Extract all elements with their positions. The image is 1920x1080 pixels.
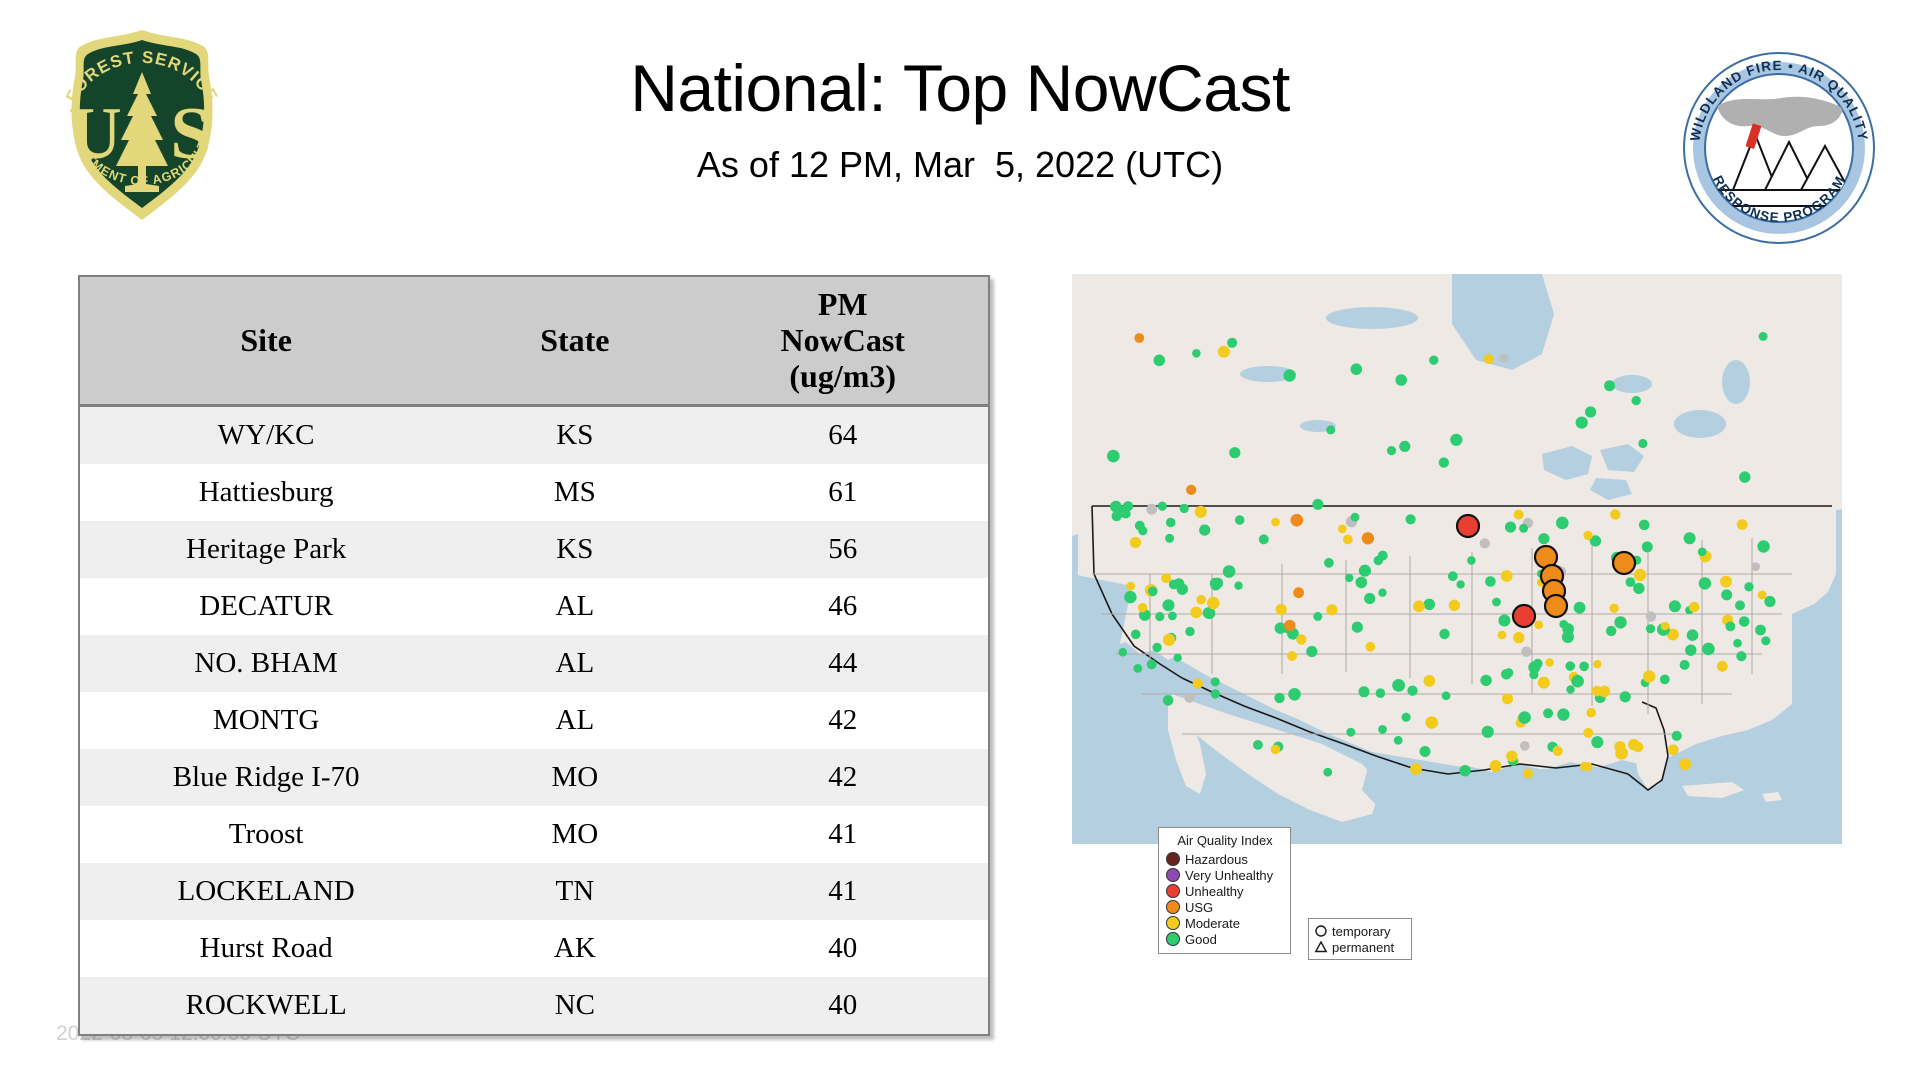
map-monitor-dot (1557, 708, 1569, 720)
title-block: National: Top NowCast As of 12 PM, Mar 5… (260, 54, 1660, 186)
map-monitor-dot (1492, 598, 1501, 607)
map-monitor-dot (1501, 669, 1512, 680)
pm-nowcast-cell: 64 (697, 406, 988, 465)
aqi-legend-swatch-icon (1166, 852, 1180, 866)
site-cell: WY/KC (80, 406, 452, 465)
map-monitor-dot (1186, 485, 1196, 495)
table-body: WY/KCKS64HattiesburgMS61Heritage ParkKS5… (80, 406, 988, 1035)
state-cell: AL (452, 692, 697, 749)
pm-nowcast-cell: 40 (697, 977, 988, 1034)
map-monitor-dot (1758, 591, 1767, 600)
map-monitor-dot (1583, 728, 1593, 738)
map-monitor-dot (1604, 380, 1615, 391)
map-monitor-dot (1633, 583, 1644, 594)
map-monitor-dot (1571, 675, 1584, 688)
column-header-site: Site (80, 277, 452, 406)
site-cell: ROCKWELL (80, 977, 452, 1034)
map-monitor-dot (1288, 688, 1301, 701)
aqi-legend-title: Air Quality Index (1166, 833, 1284, 848)
map-monitor-dot (1110, 501, 1122, 513)
map-monitor-dot (1351, 513, 1360, 522)
map-monitor-dot (1343, 535, 1353, 545)
map-monitor-dot (1543, 708, 1553, 718)
map-monitor-dot (1138, 603, 1147, 612)
permanent-triangle-icon (1314, 940, 1328, 954)
map-monitor-dot (1562, 631, 1574, 643)
map-monitor-dot (1410, 763, 1422, 775)
map-monitor-dot (1514, 510, 1524, 520)
map-monitor-dot (1634, 569, 1646, 581)
map-monitor-dot (1518, 711, 1531, 724)
map-monitor-dot (1529, 670, 1538, 679)
map-monitor-dot (1271, 518, 1280, 527)
pm-nowcast-cell: 61 (697, 464, 988, 521)
map-monitor-dot (1133, 664, 1142, 673)
map-monitor-dot (1759, 332, 1768, 341)
site-cell: Heritage Park (80, 521, 452, 578)
map-monitor-dot (1717, 661, 1728, 672)
map-monitor-dot (1534, 620, 1543, 629)
aqi-legend-label: Unhealthy (1185, 885, 1244, 898)
map-monitor-dot (1399, 441, 1410, 452)
map-monitor-dot (1423, 675, 1435, 687)
map-monitor-dot (1387, 446, 1396, 455)
map-monitor-dot (1283, 369, 1295, 381)
map-monitor-dot (1579, 662, 1589, 672)
table-header-row: Site State PM NowCast (ug/m3) (80, 277, 988, 406)
map-monitor-dot (1211, 689, 1220, 698)
map-monitor-dot (1196, 595, 1206, 605)
pm-nowcast-cell: 42 (697, 692, 988, 749)
map-monitor-dot (1689, 602, 1700, 613)
map-monitor-dot (1484, 354, 1494, 364)
map-monitor-dot (1606, 626, 1616, 636)
aqi-legend-swatch-icon (1166, 900, 1180, 914)
page-title: National: Top NowCast (260, 54, 1660, 124)
aqi-legend-item: Moderate (1166, 915, 1284, 931)
map-monitor-dot (1296, 634, 1306, 644)
state-cell: MO (452, 749, 697, 806)
map-monitor-dot (1679, 758, 1691, 770)
site-cell: Blue Ridge I-70 (80, 749, 452, 806)
map-monitor-dot (1429, 356, 1438, 365)
map-monitor-dot (1448, 571, 1458, 581)
map-monitor-dot (1668, 744, 1679, 755)
page-header: FOREST SERVICE U S DEPARTMENT OF AGRICUL… (0, 0, 1920, 255)
wfaqrp-logo: WILDLAND FIRE • AIR QUALITY RESPONSE PRO… (1681, 50, 1877, 246)
map-monitor-dot (1439, 457, 1449, 467)
map-monitor-dot (1227, 338, 1237, 348)
map-monitor-dot (1545, 658, 1553, 666)
table-row: TroostMO41 (80, 806, 988, 863)
table-row: Heritage ParkKS56 (80, 521, 988, 578)
table-row: LOCKELANDTN41 (80, 863, 988, 920)
site-cell: MONTG (80, 692, 452, 749)
map-monitor-dot (1338, 524, 1347, 533)
state-cell: MS (452, 464, 697, 521)
wildland-fire-air-quality-icon: WILDLAND FIRE • AIR QUALITY RESPONSE PRO… (1681, 50, 1877, 246)
column-header-pm-line3: (ug/m3) (789, 358, 896, 394)
map-monitor-dot (1680, 660, 1690, 670)
map-monitor-dot (1190, 607, 1202, 619)
site-cell: DECATUR (80, 578, 452, 635)
map-monitor-dot (1737, 519, 1748, 530)
map-monitor-dot (1174, 578, 1185, 589)
map-monitor-dot (1538, 677, 1550, 689)
site-cell: LOCKELAND (80, 863, 452, 920)
map-monitor-dot (1163, 634, 1175, 646)
site-type-label-temporary: temporary (1332, 925, 1391, 938)
map-monitor-dot (1274, 693, 1284, 703)
map-monitor-dot (1180, 504, 1189, 513)
map-monitor-dot (1351, 363, 1363, 375)
state-cell: KS (452, 521, 697, 578)
map-monitor-dot (1593, 660, 1601, 668)
map-monitor-dot (1121, 509, 1131, 519)
pm-nowcast-cell: 41 (697, 806, 988, 863)
map-monitor-dot (1513, 632, 1524, 643)
map-monitor-dot (1672, 731, 1682, 741)
map-monitor-dot (1614, 616, 1626, 628)
map-monitor-dot (1126, 582, 1135, 591)
map-monitor-dot (1500, 354, 1509, 363)
map-monitor-dot (1538, 533, 1549, 544)
map-monitor-dot (1501, 570, 1513, 582)
map-monitor-dot (1485, 576, 1496, 587)
map-monitor-dot (1185, 627, 1194, 636)
aqi-legend-swatch-icon (1166, 932, 1180, 946)
map-monitor-dot (1739, 471, 1750, 482)
map-monitor-dot (1323, 768, 1332, 777)
map-monitor-dot (1324, 558, 1334, 568)
site-cell: NO. BHAM (80, 635, 452, 692)
map-monitor-dot (1271, 745, 1281, 755)
map-monitor-dot (1642, 541, 1653, 552)
map-monitor-dot (1565, 661, 1575, 671)
map-monitor-dot (1235, 515, 1245, 525)
map-monitor-dot (1506, 751, 1517, 762)
aqi-legend-item: Good (1166, 931, 1284, 947)
aqi-legend-label: Very Unhealthy (1185, 869, 1273, 882)
aqi-legend: Air Quality Index HazardousVery Unhealth… (1158, 827, 1291, 954)
map-monitor-dot (1424, 599, 1435, 610)
map-monitor-dot (1628, 739, 1640, 751)
map-monitor-dot (1306, 646, 1317, 657)
map-monitor-dot (1574, 602, 1586, 614)
aqi-legend-label: USG (1185, 901, 1213, 914)
aqi-legend-item: USG (1166, 899, 1284, 915)
map-monitor-dot (1166, 518, 1176, 528)
map-monitor-dot (1480, 675, 1491, 686)
map-monitor-dot (1615, 747, 1628, 760)
forest-service-shield-icon: FOREST SERVICE U S DEPARTMENT OF AGRICUL… (47, 24, 237, 226)
pm-nowcast-cell: 41 (697, 863, 988, 920)
state-cell: KS (452, 406, 697, 465)
map-monitor-dot (1586, 708, 1596, 718)
map-monitor-dot (1439, 629, 1449, 639)
state-cell: NC (452, 977, 697, 1034)
map-monitor-dot (1199, 525, 1210, 536)
map-monitor-dot (1107, 450, 1120, 463)
map-monitor-dot (1192, 349, 1201, 358)
map-monitor-dot (1684, 532, 1696, 544)
map-monitor-dot (1733, 639, 1742, 648)
map-monitor-dot (1312, 499, 1323, 510)
map-monitor-dot (1699, 577, 1711, 589)
map-monitor-dot (1229, 447, 1240, 458)
map-monitor-dot (1154, 355, 1166, 367)
pm-nowcast-cell: 56 (697, 521, 988, 578)
map-monitor-dot (1556, 517, 1569, 530)
map-monitor-dot (1502, 693, 1513, 704)
site-cell: Hurst Road (80, 920, 452, 977)
map-monitor-dot (1456, 580, 1464, 588)
map-monitor-dot (1326, 604, 1337, 615)
map-monitor-dot (1638, 439, 1647, 448)
map-monitor-dot (1643, 670, 1655, 682)
map-monitor-dot (1482, 726, 1494, 738)
map-monitor-dot (1287, 651, 1297, 661)
map-monitor-dot (1378, 589, 1386, 597)
map-monitor-dot (1702, 643, 1715, 656)
map-monitor-dot (1362, 532, 1374, 544)
map-monitor-dot (1195, 506, 1207, 518)
map-monitor-dot (1259, 534, 1269, 544)
map-monitor-dot (1293, 587, 1304, 598)
map-monitor-dot (1211, 677, 1220, 686)
table-row: MONTGAL42 (80, 692, 988, 749)
top-nowcast-table-container: Site State PM NowCast (ug/m3) WY/KCKS64H… (78, 275, 990, 1036)
map-monitor-dot (1498, 615, 1510, 627)
map-highlight-marker[interactable]: WY/KC (KS): 64 (1457, 515, 1479, 537)
aqi-map[interactable]: WY/KC (KS): 64Hattiesburg (MS): 61Herita… (1072, 274, 1842, 844)
map-monitor-dot (1223, 565, 1236, 578)
map-monitor-dot (1757, 540, 1769, 552)
state-cell: AL (452, 578, 697, 635)
map-monitor-dot (1207, 597, 1220, 610)
map-monitor-dot (1253, 740, 1263, 750)
map-monitor-dot (1407, 686, 1417, 696)
map-monitor-dot (1119, 648, 1128, 657)
aqi-legend-item: Hazardous (1166, 851, 1284, 867)
map-monitor-dot (1735, 600, 1745, 610)
map-monitor-dot (1131, 630, 1141, 640)
map-monitor-dot (1669, 600, 1681, 612)
map-monitor-dot (1520, 741, 1530, 751)
state-cell: AK (452, 920, 697, 977)
map-monitor-dot (1394, 736, 1403, 745)
map-monitor-dot (1406, 514, 1416, 524)
map-monitor-dot (1420, 746, 1431, 757)
map-monitor-dot (1163, 695, 1174, 706)
site-type-row-permanent: permanent (1314, 939, 1406, 955)
map-monitor-dot (1764, 596, 1775, 607)
map-monitor-dot (1168, 612, 1177, 621)
aqi-legend-label: Hazardous (1185, 853, 1248, 866)
table-row: NO. BHAMAL44 (80, 635, 988, 692)
aqi-legend-label: Moderate (1185, 917, 1240, 930)
map-monitor-dot (1284, 620, 1295, 631)
aqi-legend-rows: HazardousVery UnhealthyUnhealthyUSGModer… (1166, 851, 1284, 947)
map-monitor-dot (1698, 548, 1707, 557)
table-row: DECATURAL46 (80, 578, 988, 635)
state-cell: TN (452, 863, 697, 920)
map-monitor-dot (1359, 686, 1370, 697)
map-monitor-dot (1364, 593, 1375, 604)
map-monitor-dot (1685, 645, 1696, 656)
map-monitor-dot (1425, 716, 1438, 729)
map-monitor-dot (1276, 604, 1287, 615)
map-monitor-dot (1450, 434, 1462, 446)
map-highlight-marker[interactable]: Hattiesburg (MS): 61 (1513, 605, 1535, 627)
map-monitor-dot (1660, 675, 1670, 685)
map-monitor-dot (1498, 631, 1507, 640)
table-row: WY/KCKS64 (80, 406, 988, 465)
map-monitor-dot (1378, 551, 1388, 561)
column-header-pm-nowcast: PM NowCast (ug/m3) (697, 277, 988, 406)
map-monitor-dot (1591, 736, 1603, 748)
site-cell: Troost (80, 806, 452, 863)
site-type-legend: temporary permanent (1308, 918, 1412, 960)
map-monitor-dot (1523, 769, 1533, 779)
map-monitor-dot (1376, 688, 1386, 698)
map-monitor-dot (1345, 574, 1353, 582)
aqi-map-svg[interactable]: WY/KC (KS): 64Hattiesburg (MS): 61Herita… (1072, 274, 1842, 844)
aqi-legend-swatch-icon (1166, 884, 1180, 898)
table-row: ROCKWELLNC40 (80, 977, 988, 1034)
pm-nowcast-cell: 46 (697, 578, 988, 635)
map-monitor-dot (1234, 581, 1242, 589)
map-monitor-dot (1148, 587, 1158, 597)
site-cell: Hattiesburg (80, 464, 452, 521)
map-monitor-dot (1646, 611, 1656, 621)
map-monitor-dot (1620, 691, 1631, 702)
map-monitor-dot (1184, 692, 1194, 702)
map-monitor-dot (1505, 522, 1516, 533)
map-monitor-dot (1134, 333, 1144, 343)
forest-service-logo: FOREST SERVICE U S DEPARTMENT OF AGRICUL… (47, 24, 237, 226)
map-monitor-dot (1583, 762, 1592, 771)
map-monitor-dot (1610, 509, 1620, 519)
map-monitor-dot (1326, 425, 1335, 434)
map-monitor-dot (1366, 642, 1376, 652)
map-monitor-dot (1112, 511, 1122, 521)
map-monitor-dot (1147, 659, 1157, 669)
map-monitor-dot (1163, 599, 1175, 611)
map-monitor-dot (1146, 504, 1157, 515)
map-monitor-dot (1413, 601, 1425, 613)
temporary-circle-icon (1314, 924, 1328, 938)
map-monitor-dot (1467, 556, 1476, 565)
page-subtitle: As of 12 PM, Mar 5, 2022 (UTC) (260, 144, 1660, 186)
top-nowcast-table: Site State PM NowCast (ug/m3) WY/KCKS64H… (80, 277, 988, 1034)
map-monitor-dot (1632, 396, 1641, 405)
map-monitor-dot (1609, 604, 1618, 613)
map-monitor-dot (1356, 577, 1368, 589)
column-header-pm-line1: PM (818, 286, 868, 322)
map-monitor-dot (1553, 746, 1563, 756)
map-monitor-dot (1661, 622, 1670, 631)
map-monitor-dot (1576, 417, 1588, 429)
map-monitor-dot (1480, 538, 1490, 548)
map-monitor-dot (1378, 725, 1387, 734)
map-monitor-dot (1626, 577, 1636, 587)
aqi-legend-item: Unhealthy (1166, 883, 1284, 899)
site-type-row-temporary: temporary (1314, 923, 1406, 939)
map-monitor-dot (1761, 636, 1770, 645)
map-monitor-dot (1161, 573, 1171, 583)
map-monitor-dot (1352, 622, 1363, 633)
map-monitor-dot (1158, 502, 1167, 511)
column-header-pm-line2: NowCast (780, 322, 904, 358)
table-row: Blue Ridge I-70MO42 (80, 749, 988, 806)
map-monitor-dot (1521, 647, 1531, 657)
aqi-legend-swatch-icon (1166, 916, 1180, 930)
map-monitor-dot (1755, 625, 1766, 636)
map-monitor-dot (1218, 346, 1230, 358)
state-cell: MO (452, 806, 697, 863)
map-monitor-dot (1585, 406, 1596, 417)
map-monitor-dot (1519, 524, 1528, 533)
map-monitor-dot (1739, 616, 1750, 627)
map-monitor-dot (1155, 612, 1164, 621)
state-cell: AL (452, 635, 697, 692)
map-monitor-dot (1313, 612, 1322, 621)
map-monitor-dot (1744, 582, 1753, 591)
site-type-label-permanent: permanent (1332, 941, 1394, 954)
map-monitor-dot (1721, 589, 1732, 600)
map-monitor-dot (1736, 651, 1746, 661)
map-monitor-dot (1210, 578, 1221, 589)
table-head: Site State PM NowCast (ug/m3) (80, 277, 988, 406)
map-monitor-dot (1392, 679, 1405, 692)
map-monitor-dot (1193, 678, 1203, 688)
table-row: HattiesburgMS61 (80, 464, 988, 521)
map-monitor-dot (1687, 629, 1699, 641)
map-monitor-dot (1599, 686, 1611, 698)
map-monitor-dot (1490, 760, 1502, 772)
map-monitor-dot (1124, 591, 1136, 603)
pm-nowcast-cell: 42 (697, 749, 988, 806)
aqi-legend-item: Very Unhealthy (1166, 867, 1284, 883)
aqi-legend-label: Good (1185, 933, 1217, 946)
map-monitor-dot (1135, 521, 1145, 531)
map-monitor-dot (1751, 562, 1760, 571)
map-monitor-dot (1459, 765, 1470, 776)
map-monitor-dot (1152, 643, 1161, 652)
map-monitor-dot (1359, 565, 1371, 577)
pm-nowcast-cell: 44 (697, 635, 988, 692)
map-monitor-dot (1566, 685, 1574, 693)
map-monitor-dot (1165, 534, 1174, 543)
map-monitor-dot (1402, 713, 1411, 722)
map-monitor-dot (1291, 514, 1304, 527)
map-monitor-dot (1346, 728, 1355, 737)
pm-nowcast-cell: 40 (697, 920, 988, 977)
column-header-state: State (452, 277, 697, 406)
map-monitor-dot (1442, 691, 1451, 700)
map-monitor-dot (1449, 600, 1460, 611)
map-monitor-dot (1130, 537, 1141, 548)
aqi-legend-swatch-icon (1166, 868, 1180, 882)
table-row: Hurst RoadAK40 (80, 920, 988, 977)
map-highlight-marker[interactable]: LOCKELAND (TN): 41 (1613, 552, 1635, 574)
map-monitor-dot (1395, 374, 1407, 386)
map-monitor-dot (1720, 576, 1732, 588)
map-monitor-dot (1174, 654, 1182, 662)
map-highlight-marker[interactable]: MONTG (AL): 42 (1545, 595, 1567, 617)
map-monitor-dot (1639, 520, 1650, 531)
